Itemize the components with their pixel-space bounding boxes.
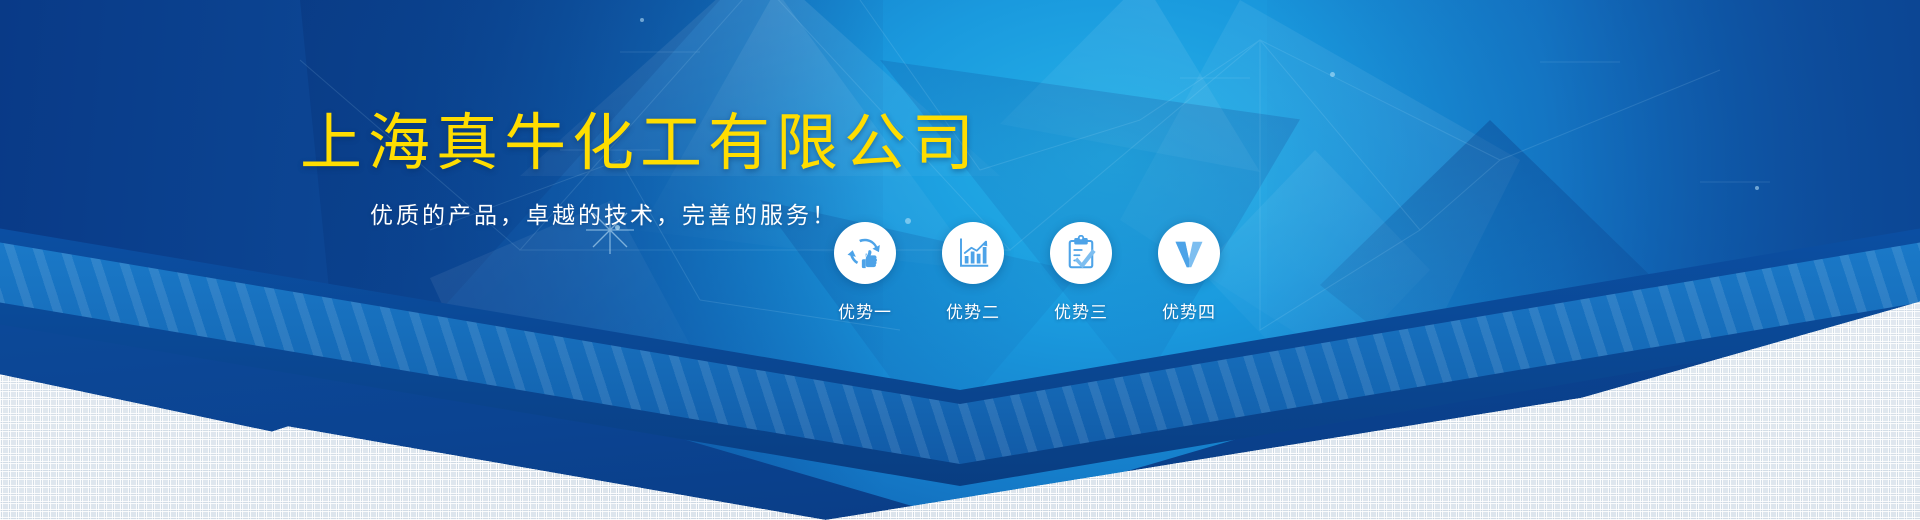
advantage-label: 优势三 <box>1054 298 1108 323</box>
hero-banner: 上海真牛化工有限公司 优质的产品，卓越的技术，完善的服务！ 优势一 <box>0 0 1920 520</box>
bar-chart-growth-icon <box>955 235 991 271</box>
advantage-icon-circle <box>1158 222 1220 284</box>
v-chevron-icon <box>1171 235 1207 271</box>
company-slogan: 优质的产品，卓越的技术，完善的服务！ <box>370 196 838 230</box>
advantage-item-2[interactable]: 优势二 <box>938 222 1008 323</box>
advantage-icon-circle <box>834 222 896 284</box>
advantage-icon-circle <box>1050 222 1112 284</box>
advantage-label: 优势四 <box>1162 298 1216 323</box>
advantage-label: 优势二 <box>946 298 1000 323</box>
advantage-item-4[interactable]: 优势四 <box>1154 222 1224 323</box>
banner-content: 上海真牛化工有限公司 优质的产品，卓越的技术，完善的服务！ 优势一 <box>0 0 1920 520</box>
advantage-label: 优势一 <box>838 298 892 323</box>
company-title: 上海真牛化工有限公司 <box>300 92 980 182</box>
advantage-icon-circle <box>942 222 1004 284</box>
refresh-thumbsup-icon <box>847 235 883 271</box>
clipboard-check-icon <box>1063 235 1099 271</box>
advantage-item-3[interactable]: 优势三 <box>1046 222 1116 323</box>
advantage-item-1[interactable]: 优势一 <box>830 222 900 323</box>
advantages-list: 优势一 <box>830 222 1224 323</box>
